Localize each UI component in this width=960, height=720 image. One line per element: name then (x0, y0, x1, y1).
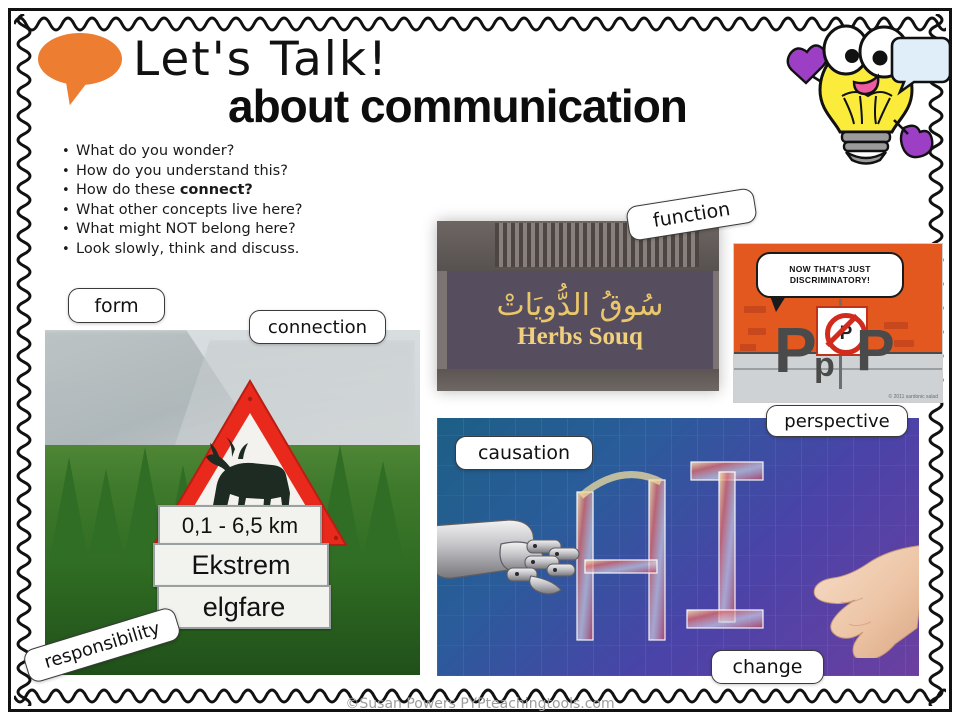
sign-warning-text-1: Ekstrem (191, 550, 290, 581)
cartoon-speech-tail-icon (770, 296, 786, 312)
bullet-marker: • (62, 181, 76, 201)
concept-label-connection[interactable]: connection (249, 310, 386, 344)
concept-label-perspective[interactable]: perspective (766, 405, 908, 437)
robot-hand-icon (437, 510, 607, 596)
sign-warning-board-2: elgfare (157, 585, 331, 629)
cartoon-speech-bubble: NOW THAT'S JUST DISCRIMINATORY! (756, 252, 904, 298)
prompt-text: What other concepts live here? (76, 201, 392, 221)
cartoon-speech-text: NOW THAT'S JUST DISCRIMINATORY! (762, 264, 898, 286)
list-item: • Look slowly, think and discuss. (62, 240, 392, 260)
photo-discriminatory-parking-cartoon: NOW THAT'S JUST DISCRIMINATORY! P P p P … (733, 243, 943, 403)
cartoon-letter-p-large-right: P (856, 322, 895, 380)
concept-label-text: connection (268, 317, 367, 338)
cartoon-letter-p-small: p (814, 348, 835, 382)
photo-lower-wall (437, 369, 719, 391)
concept-label-text: function (651, 198, 731, 232)
copyright-credit: ©Susan Powers PYPteachingtools.com (0, 696, 960, 712)
lightbulb-character-icon (782, 24, 950, 174)
prompt-text: What do you wonder? (76, 142, 392, 162)
prompt-text: How do you understand this? (76, 162, 392, 182)
cartoon-credit: © 2011 sardonic salad (889, 394, 938, 400)
cartoon-letter-p-large-left: P (774, 318, 817, 382)
bullet-marker: • (62, 240, 76, 260)
bullet-marker: • (62, 142, 76, 162)
list-item: • How do you understand this? (62, 162, 392, 182)
prompt-text-plain: How do these (76, 182, 180, 198)
prompt-text: How do these connect? (76, 181, 392, 201)
sign-warning-board-1: Ekstrem (153, 543, 329, 587)
photo-herbs-souq-sign: سُوقُ الدُّويَاتْ Herbs Souq (437, 221, 719, 391)
human-hand-icon (767, 538, 919, 658)
list-item: • What do you wonder? (62, 142, 392, 162)
list-item: • What might NOT belong here? (62, 220, 392, 240)
bullet-marker: • (62, 201, 76, 221)
prompt-text: What might NOT belong here? (76, 220, 392, 240)
concept-label-text: perspective (784, 411, 889, 432)
shop-sign-arabic: سُوقُ الدُّويَاتْ (497, 289, 664, 323)
concept-label-text: form (94, 295, 138, 317)
shop-sign-english: Herbs Souq (517, 323, 643, 351)
shop-sign-board: سُوقُ الدُّويَاتْ Herbs Souq (447, 271, 713, 369)
border-squiggle-left (12, 14, 36, 706)
concept-label-form[interactable]: form (68, 288, 165, 323)
prompt-text-emphasis: connect? (180, 182, 253, 198)
speech-bubble-tail-icon (60, 72, 92, 108)
bullet-marker: • (62, 220, 76, 240)
slide-canvas: Let's Talk! about communication (0, 0, 960, 720)
bullet-marker: • (62, 162, 76, 182)
list-item: • How do these connect? (62, 181, 392, 201)
page-title-line2: about communication (228, 79, 687, 133)
sign-distance-text: 0,1 - 6,5 km (182, 513, 298, 539)
prompt-text: Look slowly, think and discuss. (76, 240, 392, 260)
list-item: • What other concepts live here? (62, 201, 392, 221)
sign-warning-text-2: elgfare (203, 592, 286, 623)
concept-label-change[interactable]: change (711, 650, 824, 684)
concept-label-text: change (733, 656, 803, 678)
discussion-prompt-list: • What do you wonder? • How do you under… (62, 142, 392, 259)
sign-distance-board: 0,1 - 6,5 km (158, 505, 322, 546)
photo-moose-warning-sign: 0,1 - 6,5 km Ekstrem elgfare (45, 330, 420, 675)
concept-label-causation[interactable]: causation (455, 436, 593, 470)
concept-label-text: causation (478, 442, 570, 464)
